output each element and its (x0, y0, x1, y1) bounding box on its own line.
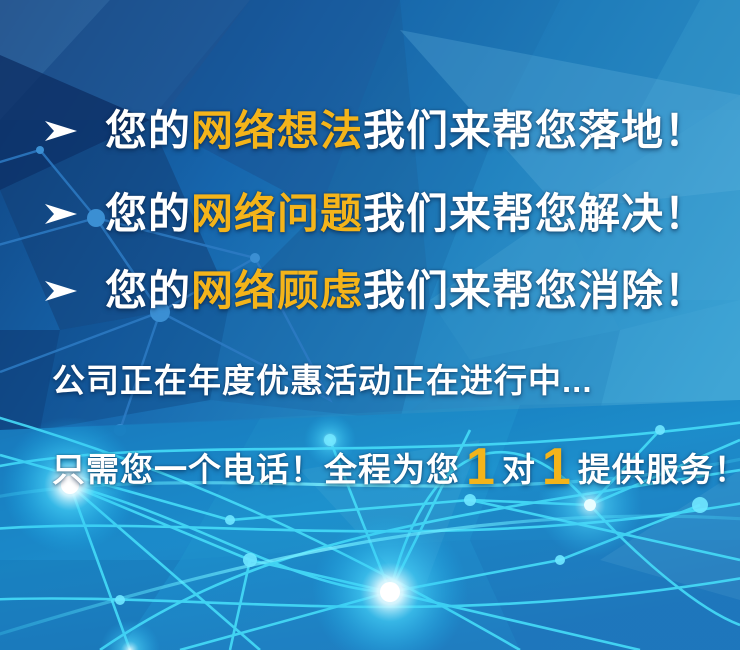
bullet-row-1: 您的网络想法我们来帮您落地！ (0, 103, 740, 159)
service-text-part1: 只需您一个电话！全程为您 (52, 453, 460, 486)
headline-2-suffix: 我们来帮您解决！ (363, 190, 707, 237)
headline-1-highlight: 网络想法 (191, 107, 363, 154)
arrow-right-icon (44, 201, 78, 227)
bullet-row-3: 您的网络顾虑我们来帮您消除！ (0, 263, 740, 319)
arrow-right-icon (44, 118, 78, 144)
bullet-row-2: 您的网络问题我们来帮您解决！ (0, 186, 740, 242)
headline-2: 您的网络问题我们来帮您解决！ (105, 193, 707, 235)
headline-2-prefix: 您的 (105, 190, 191, 237)
headline-3-suffix: 我们来帮您消除！ (363, 267, 707, 314)
service-text-part2: 提供服务！ (578, 453, 740, 486)
service-number-second: 1 (536, 441, 578, 493)
headline-1-suffix: 我们来帮您落地！ (363, 107, 707, 154)
headline-3: 您的网络顾虑我们来帮您消除！ (105, 270, 707, 312)
service-number-first: 1 (460, 441, 502, 493)
service-text-middle: 对 (502, 453, 536, 486)
headline-1: 您的网络想法我们来帮您落地！ (105, 110, 707, 152)
headline-3-highlight: 网络顾虑 (191, 267, 363, 314)
arrow-right-icon (44, 278, 78, 304)
banner-content: 您的网络想法我们来帮您落地！ 您的网络问题我们来帮您解决！ 您的网络顾虑我们来帮… (0, 0, 740, 650)
promo-banner: 您的网络想法我们来帮您落地！ 您的网络问题我们来帮您解决！ 您的网络顾虑我们来帮… (0, 0, 740, 650)
headline-3-prefix: 您的 (105, 267, 191, 314)
service-text: 只需您一个电话！全程为您 1 对 1 提供服务！ (52, 438, 740, 490)
headline-2-highlight: 网络问题 (191, 190, 363, 237)
promo-text: 公司正在年度优惠活动正在进行中... (52, 364, 593, 397)
headline-1-prefix: 您的 (105, 107, 191, 154)
